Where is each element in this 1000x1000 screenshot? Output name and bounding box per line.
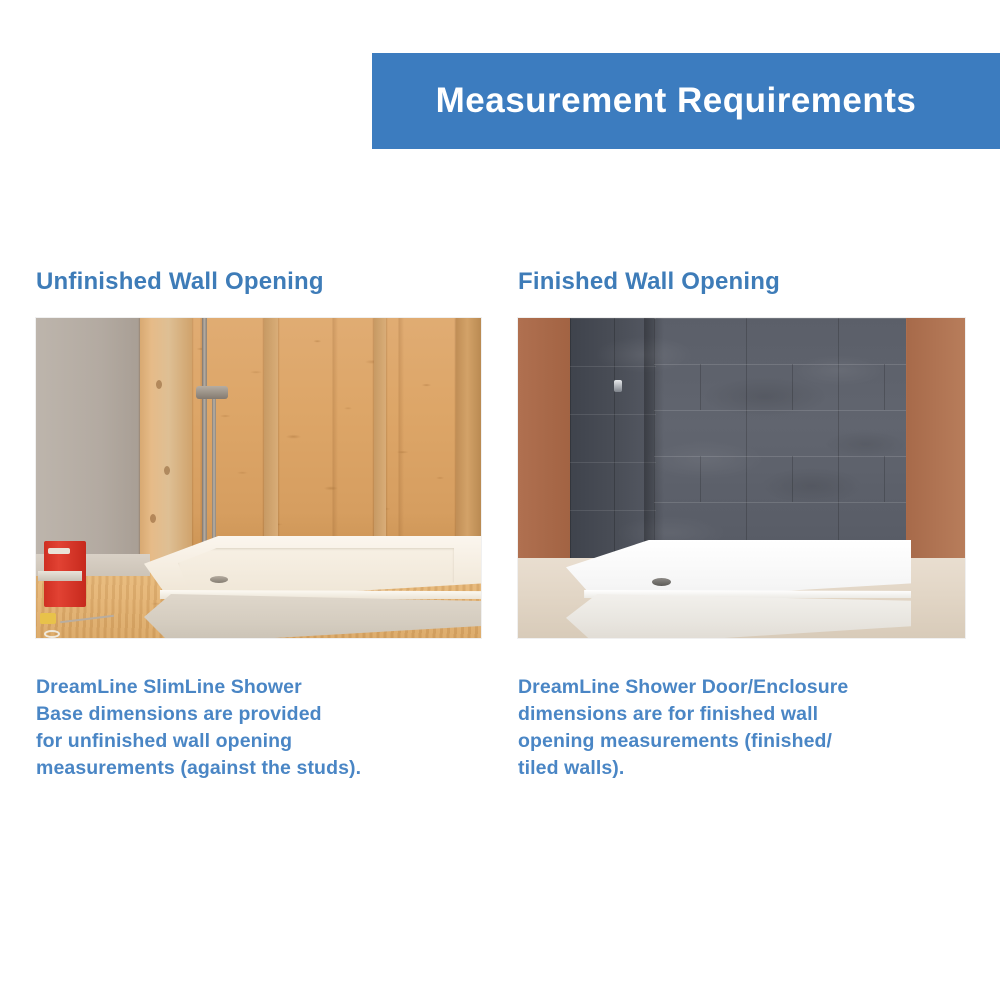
shower-valve-bracket [196, 386, 228, 399]
shower-supply-pipe [202, 318, 207, 568]
unfinished-wall-column: Unfinished Wall Opening [36, 268, 484, 782]
toolbox-handle [48, 548, 70, 554]
slimline-shower-base [566, 540, 911, 638]
page-title: Measurement Requirements [436, 81, 917, 121]
section-heading-finished: Finished Wall Opening [518, 268, 968, 296]
finished-wall-column: Finished Wall Opening DreamLine Shower D… [518, 268, 968, 782]
caption-finished: DreamLine Shower Door/Enclosure dimensio… [518, 674, 968, 782]
wood-knot-icon [164, 466, 170, 475]
section-heading-unfinished: Unfinished Wall Opening [36, 268, 484, 296]
drain-icon [652, 578, 671, 586]
caption-unfinished: DreamLine SlimLine Shower Base dimension… [36, 674, 484, 782]
wood-knot-icon [150, 514, 156, 523]
shower-base-apron [566, 594, 911, 638]
slimline-shower-base [144, 536, 481, 638]
shower-base-apron [144, 594, 481, 638]
painted-wall-left [518, 318, 570, 576]
wood-knot-icon [156, 380, 162, 389]
tape-measure-icon [40, 613, 56, 624]
pipe-ring-icon [44, 630, 60, 638]
toolbox-latch [38, 571, 82, 581]
drain-icon [210, 576, 228, 583]
header-banner: Measurement Requirements [372, 53, 1000, 149]
finished-wall-opening-photo [518, 318, 965, 638]
painted-wall-right [907, 318, 965, 576]
shower-valve-icon [614, 380, 622, 392]
unfinished-wall-opening-photo [36, 318, 481, 638]
